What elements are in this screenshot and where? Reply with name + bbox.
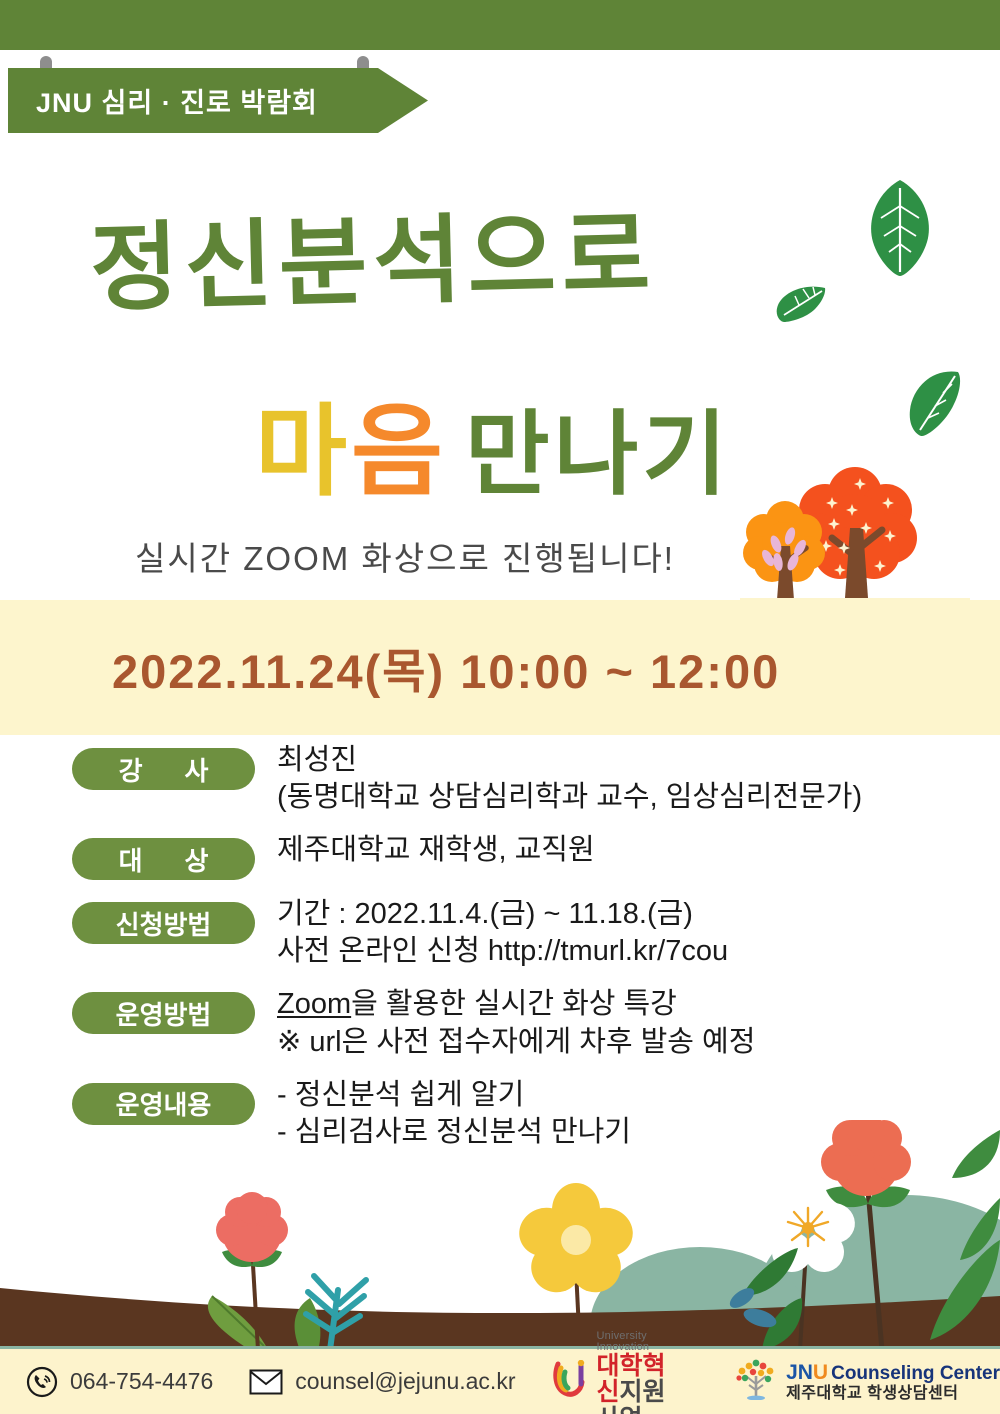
autumn-trees-illustration — [740, 458, 970, 615]
jnu-u: U — [813, 1361, 828, 1384]
label-audience: 대상 — [72, 838, 255, 880]
value-apply: 기간 : 2022.11.4.(금) ~ 11.18.(금) 사전 온라인 신청… — [277, 896, 728, 970]
label-content: 운영내용 — [72, 1083, 255, 1125]
phone-icon — [26, 1366, 58, 1398]
title-ma: 마 — [255, 396, 351, 508]
label-method: 운영방법 — [72, 992, 255, 1034]
value-method: Zoom을 활용한 실시간 화상 특강 ※ url은 사전 접수자에게 차후 발… — [277, 986, 755, 1060]
label-lecturer-b: 사 — [185, 751, 209, 788]
value-method-line-1-rest: 을 활용한 실시간 화상 특강 — [351, 988, 677, 1020]
value-content-line-1: - 정신분석 쉽게 알기 — [277, 1077, 631, 1114]
footer-phone: 064-754-4476 — [26, 1366, 213, 1398]
title-eum: 음 — [351, 396, 447, 508]
poster-root: JNU 심리 · 진로 박람회 정신분석으로 마음만나기 실시간 ZOOM 화상… — [0, 0, 1000, 1414]
date-text: 2022.11.24(목) 10:00 ~ 12:00 — [112, 633, 780, 702]
phone-number: 064-754-4476 — [70, 1368, 213, 1395]
top-green-bar — [0, 0, 1000, 50]
counseling-center-korean: 제주대학교 학생상담센터 — [786, 1385, 1000, 1403]
logo-jnu-counseling-center: JNUCounseling Center 제주대학교 학생상담센터 — [732, 1358, 1000, 1405]
title-line-2: 마음만나기 — [255, 370, 731, 515]
zoom-underlined: Zoom — [277, 988, 351, 1020]
banner-label: JNU 심리 · 진로 박람회 — [36, 81, 318, 120]
info-row-method: 운영방법 Zoom을 활용한 실시간 화상 특강 ※ url은 사전 접수자에게… — [0, 986, 1000, 1060]
label-apply: 신청방법 — [72, 902, 255, 944]
value-apply-line-1: 기간 : 2022.11.4.(금) ~ 11.18.(금) — [277, 896, 728, 933]
footer-bar: 064-754-4476 counsel@jejunu.ac.kr — [0, 1349, 1000, 1414]
value-audience: 제주대학교 재학생, 교직원 — [277, 832, 595, 869]
counseling-center-top: JNUCounseling Center — [786, 1361, 1000, 1385]
university-innovation-mark-icon — [553, 1360, 589, 1403]
university-innovation-sub: University Innovation — [596, 1331, 684, 1353]
title-line-1: 정신분석으로 — [88, 177, 657, 330]
university-innovation-main: 대학혁신지원사업 — [596, 1353, 684, 1414]
label-audience-b: 상 — [185, 841, 209, 878]
value-lecturer: 최성진 (동명대학교 상담심리학과 교수, 임상심리전문가) — [277, 742, 862, 816]
envelope-icon — [249, 1369, 283, 1395]
info-row-lecturer: 강사 최성진 (동명대학교 상담심리학과 교수, 임상심리전문가) — [0, 742, 1000, 816]
label-lecturer-a: 강 — [119, 751, 143, 788]
event-banner: JNU 심리 · 진로 박람회 — [8, 68, 428, 133]
email-address: counsel@jejunu.ac.kr — [295, 1368, 515, 1395]
value-lecturer-line-2: (동명대학교 상담심리학과 교수, 임상심리전문가) — [277, 779, 862, 816]
info-row-apply: 신청방법 기간 : 2022.11.4.(금) ~ 11.18.(금) 사전 온… — [0, 896, 1000, 970]
value-audience-line-1: 제주대학교 재학생, 교직원 — [277, 832, 595, 869]
label-audience-a: 대 — [119, 841, 143, 878]
value-method-line-1: Zoom을 활용한 실시간 화상 특강 — [277, 986, 755, 1023]
date-band: 2022.11.24(목) 10:00 ~ 12:00 — [0, 600, 1000, 735]
jnu-jn: JN — [786, 1361, 813, 1384]
logo-university-innovation: University Innovation 대학혁신지원사업 — [553, 1331, 684, 1414]
garden-illustration — [0, 1120, 1000, 1350]
counseling-center-text: JNUCounseling Center 제주대학교 학생상담센터 — [786, 1361, 1000, 1402]
label-lecturer: 강사 — [72, 748, 255, 790]
leaf-large-icon — [867, 178, 933, 278]
subtitle: 실시간 ZOOM 화상으로 진행됩니다! — [135, 532, 675, 580]
leaf-small-icon — [775, 285, 827, 323]
footer-email: counsel@jejunu.ac.kr — [249, 1368, 515, 1395]
counseling-center-label: Counseling Center — [831, 1363, 1000, 1384]
leaf-medium-icon — [908, 368, 964, 438]
info-list: 강사 최성진 (동명대학교 상담심리학과 교수, 임상심리전문가) 대상 제주대… — [0, 742, 1000, 1161]
value-lecturer-line-1: 최성진 — [277, 742, 862, 779]
counseling-tree-icon — [732, 1358, 780, 1405]
info-row-audience: 대상 제주대학교 재학생, 교직원 — [0, 832, 1000, 880]
value-method-line-2: ※ url은 사전 접수자에게 차후 발송 예정 — [277, 1024, 755, 1061]
value-apply-line-2[interactable]: 사전 온라인 신청 http://tmurl.kr/7cou — [277, 933, 728, 970]
title-mannagi: 만나기 — [465, 404, 731, 506]
university-innovation-text: University Innovation 대학혁신지원사업 — [596, 1331, 684, 1414]
